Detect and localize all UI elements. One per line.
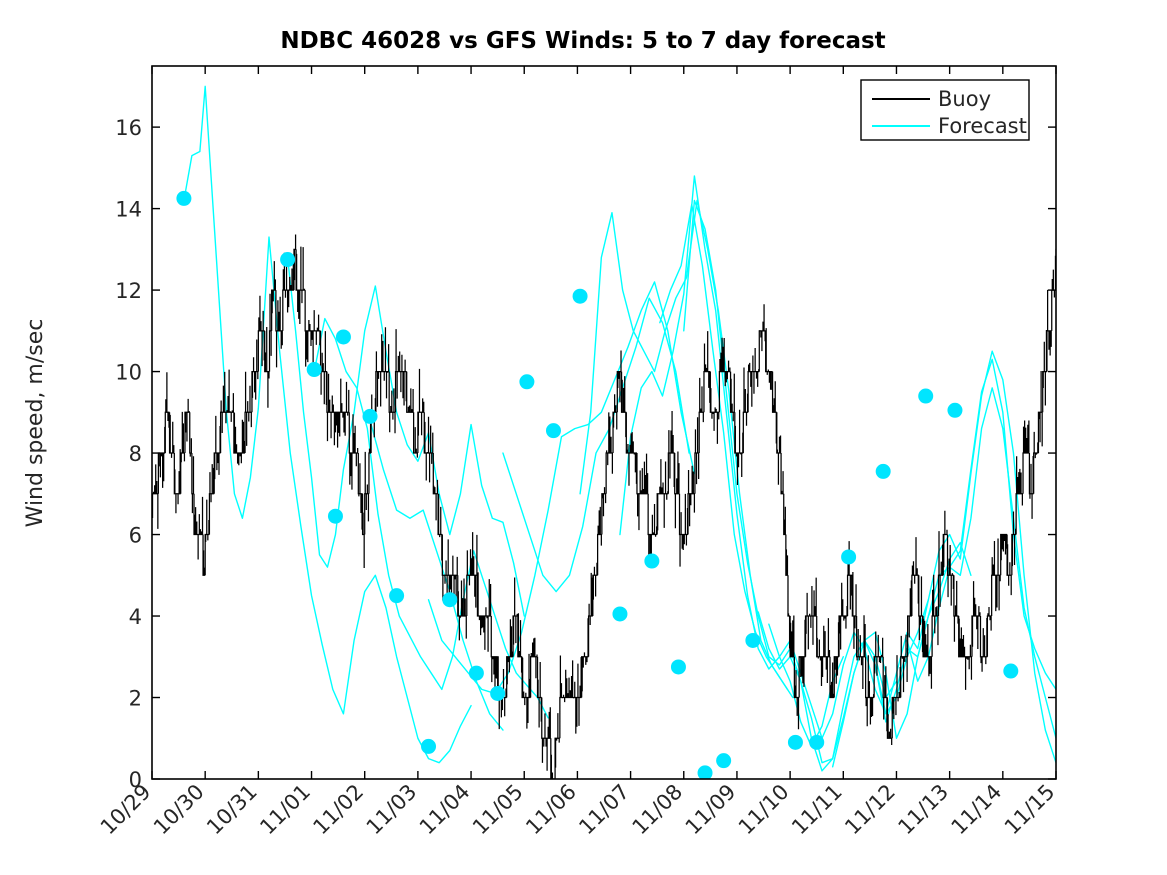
forecast-marker-point bbox=[546, 423, 561, 438]
y-tick-label: 12 bbox=[115, 279, 142, 303]
forecast-marker-point bbox=[176, 191, 191, 206]
y-tick-label: 10 bbox=[115, 361, 142, 385]
forecast-marker-point bbox=[328, 509, 343, 524]
forecast-marker-point bbox=[469, 666, 484, 681]
forecast-marker-point bbox=[698, 765, 713, 780]
legend-label-buoy: Buoy bbox=[938, 87, 991, 111]
forecast-marker-point bbox=[809, 735, 824, 750]
wind-speed-chart: NDBC 46028 vs GFS Winds: 5 to 7 day fore… bbox=[0, 0, 1167, 875]
y-tick-label: 4 bbox=[129, 605, 142, 629]
forecast-marker-point bbox=[363, 409, 378, 424]
forecast-marker-point bbox=[280, 252, 295, 267]
forecast-marker-point bbox=[573, 289, 588, 304]
forecast-marker-point bbox=[876, 464, 891, 479]
forecast-marker-point bbox=[490, 686, 505, 701]
forecast-marker-point bbox=[841, 549, 856, 564]
chart-title: NDBC 46028 vs GFS Winds: 5 to 7 day fore… bbox=[280, 28, 885, 54]
figure-container: NDBC 46028 vs GFS Winds: 5 to 7 day fore… bbox=[0, 0, 1167, 875]
forecast-marker-point bbox=[671, 659, 686, 674]
y-axis-label: Wind speed, m/sec bbox=[23, 319, 48, 528]
forecast-marker-point bbox=[307, 362, 322, 377]
forecast-marker-point bbox=[389, 588, 404, 603]
forecast-marker-point bbox=[947, 403, 962, 418]
y-tick-label: 6 bbox=[129, 524, 142, 548]
forecast-marker-point bbox=[519, 374, 534, 389]
forecast-marker-point bbox=[716, 753, 731, 768]
forecast-marker-point bbox=[918, 389, 933, 404]
legend-label-forecast: Forecast bbox=[938, 114, 1027, 138]
forecast-marker-point bbox=[1003, 664, 1018, 679]
forecast-marker-point bbox=[644, 554, 659, 569]
y-tick-label: 2 bbox=[129, 687, 142, 711]
forecast-marker-point bbox=[336, 329, 351, 344]
forecast-marker-point bbox=[788, 735, 803, 750]
chart-legend[interactable]: Buoy Forecast bbox=[861, 80, 1029, 140]
forecast-marker-point bbox=[442, 592, 457, 607]
y-tick-label: 8 bbox=[129, 442, 142, 466]
forecast-marker-point bbox=[421, 739, 436, 754]
y-tick-label: 16 bbox=[115, 116, 142, 140]
forecast-marker-point bbox=[745, 633, 760, 648]
y-tick-label: 14 bbox=[115, 198, 142, 222]
forecast-marker-point bbox=[612, 606, 627, 621]
y-tick-label: 0 bbox=[129, 768, 142, 792]
